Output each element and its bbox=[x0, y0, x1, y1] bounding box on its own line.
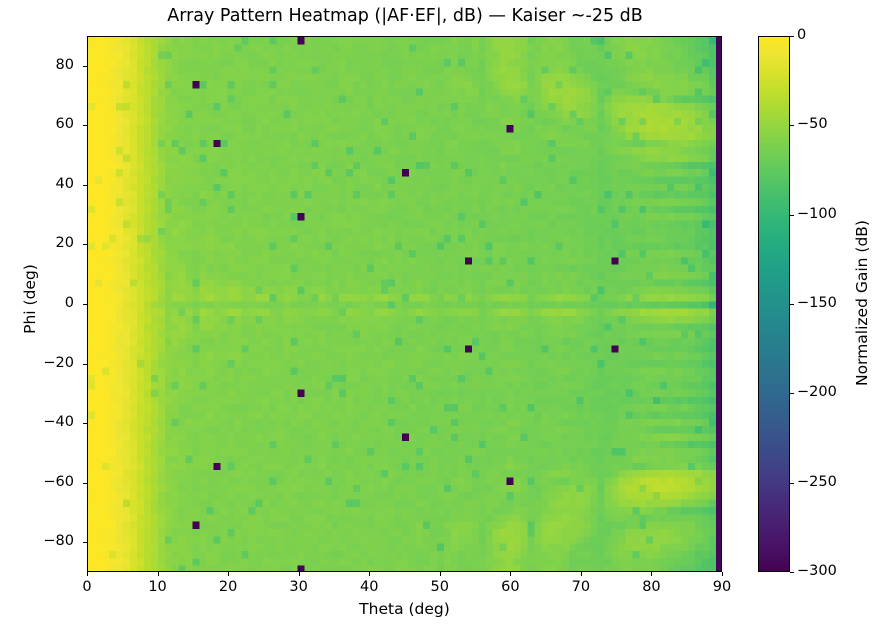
y-tick-label: −80 bbox=[14, 533, 74, 550]
x-tick-label: 70 bbox=[551, 579, 611, 596]
x-tick-mark bbox=[158, 572, 159, 576]
colorbar[interactable] bbox=[758, 36, 790, 572]
colorbar-label: Normalized Gain (dB) bbox=[853, 163, 871, 443]
y-tick-mark bbox=[83, 185, 87, 186]
heatmap-image bbox=[88, 37, 722, 572]
x-axis-label: Theta (deg) bbox=[87, 600, 722, 618]
colorbar-tick-mark bbox=[790, 304, 794, 305]
colorbar-tick-mark bbox=[790, 125, 794, 126]
colorbar-tick-label: −150 bbox=[797, 295, 837, 312]
x-tick-label: 30 bbox=[269, 579, 329, 596]
x-tick-label: 0 bbox=[57, 579, 117, 596]
x-tick-label: 80 bbox=[621, 579, 681, 596]
x-tick-mark bbox=[87, 572, 88, 576]
chart-title: Array Pattern Heatmap (|AF·EF|, dB) — Ka… bbox=[0, 4, 810, 28]
x-tick-label: 40 bbox=[339, 579, 399, 596]
x-tick-label: 60 bbox=[480, 579, 540, 596]
y-axis-label: Phi (deg) bbox=[21, 169, 39, 429]
colorbar-tick-mark bbox=[790, 215, 794, 216]
x-tick-mark bbox=[651, 572, 652, 576]
colorbar-tick-label: 0 bbox=[797, 27, 806, 44]
colorbar-tick-mark bbox=[790, 483, 794, 484]
x-tick-mark bbox=[581, 572, 582, 576]
y-tick-label: 60 bbox=[14, 116, 74, 133]
y-tick-mark bbox=[83, 244, 87, 245]
y-tick-label: 80 bbox=[14, 57, 74, 74]
colorbar-tick-label: −300 bbox=[797, 563, 837, 580]
heatmap-axes[interactable] bbox=[87, 36, 722, 572]
x-tick-mark bbox=[440, 572, 441, 576]
x-tick-label: 10 bbox=[128, 579, 188, 596]
colorbar-tick-label: −50 bbox=[797, 116, 828, 133]
x-tick-mark bbox=[510, 572, 511, 576]
figure-canvas: Array Pattern Heatmap (|AF·EF|, dB) — Ka… bbox=[0, 0, 885, 637]
y-tick-mark bbox=[83, 304, 87, 305]
y-tick-mark bbox=[83, 364, 87, 365]
y-tick-mark bbox=[83, 125, 87, 126]
x-tick-mark bbox=[369, 572, 370, 576]
x-tick-label: 90 bbox=[692, 579, 752, 596]
x-tick-mark bbox=[299, 572, 300, 576]
x-tick-label: 50 bbox=[410, 579, 470, 596]
y-tick-mark bbox=[83, 542, 87, 543]
colorbar-gradient bbox=[759, 37, 790, 572]
y-tick-mark bbox=[83, 483, 87, 484]
colorbar-tick-label: −250 bbox=[797, 474, 837, 491]
y-tick-label: −60 bbox=[14, 474, 74, 491]
x-tick-label: 20 bbox=[198, 579, 258, 596]
y-tick-mark bbox=[83, 66, 87, 67]
x-tick-mark bbox=[228, 572, 229, 576]
colorbar-tick-mark bbox=[790, 393, 794, 394]
colorbar-tick-mark bbox=[790, 572, 794, 573]
colorbar-tick-label: −200 bbox=[797, 384, 837, 401]
y-tick-mark bbox=[83, 423, 87, 424]
colorbar-tick-mark bbox=[790, 36, 794, 37]
x-tick-mark bbox=[722, 572, 723, 576]
colorbar-tick-label: −100 bbox=[797, 206, 837, 223]
